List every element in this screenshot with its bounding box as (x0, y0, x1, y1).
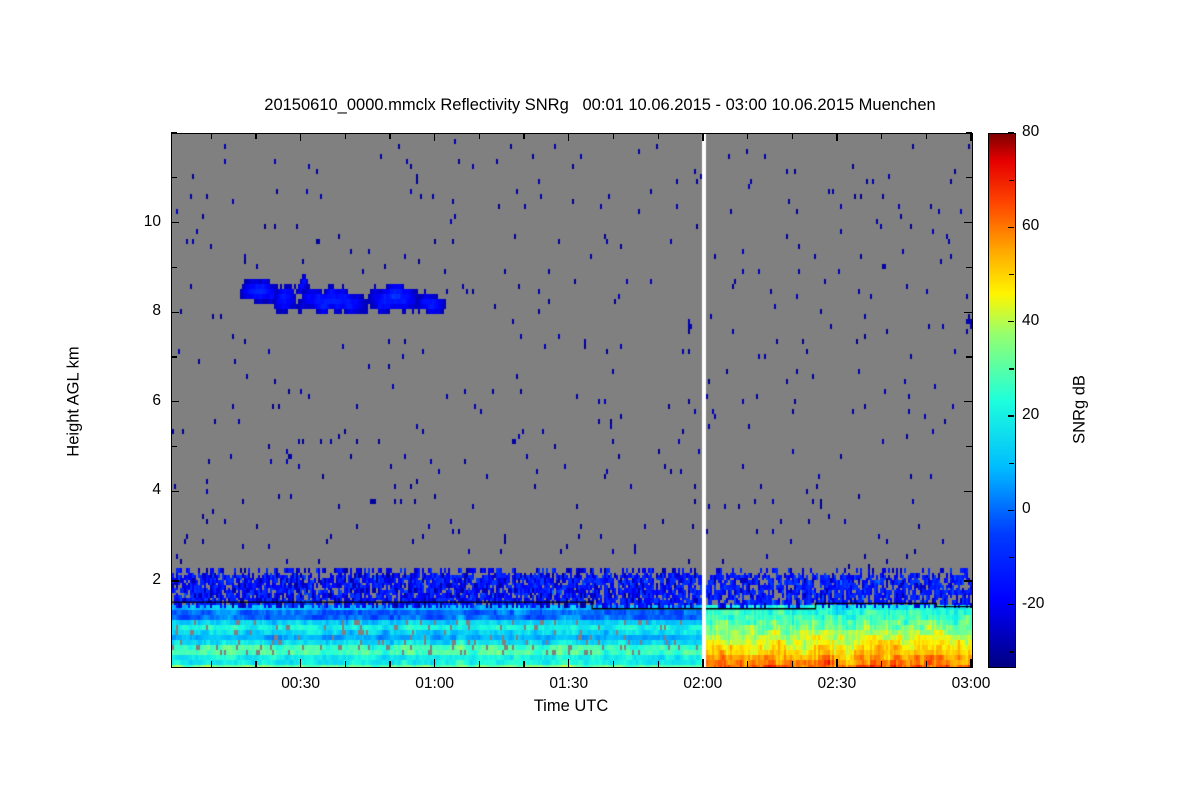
y-axis-tick-label: 2 (121, 571, 161, 589)
y-axis-label: Height AGL km (65, 282, 84, 522)
y-axis-tick (171, 580, 179, 581)
y-axis-minor-tick (171, 446, 177, 447)
y-axis-minor-tick (171, 356, 177, 357)
colorbar-tick-label: 80 (1022, 123, 1039, 141)
x-axis-minor-tick (211, 661, 212, 667)
y-axis-tick (171, 491, 179, 492)
colorbar-label: SNRg dB (1071, 310, 1090, 510)
x-axis-tick (300, 659, 301, 667)
colorbar-tick (1008, 510, 1014, 511)
colorbar-tick (1008, 227, 1014, 228)
x-axis-minor-tick-top (792, 133, 793, 139)
y-axis-tick-label: 6 (121, 392, 161, 410)
x-axis-minor-tick-top (523, 133, 524, 139)
x-axis-minor-tick (345, 661, 346, 667)
y-axis-tick-right (964, 580, 972, 581)
y-axis-tick-label: 8 (121, 302, 161, 320)
x-axis-tick-label: 02:00 (663, 675, 743, 693)
x-axis-minor-tick (926, 661, 927, 667)
x-axis-tick (702, 659, 703, 667)
x-axis-minor-tick-top (926, 133, 927, 139)
reflectivity-heatmap-axes (171, 133, 973, 668)
x-axis-tick (568, 659, 569, 667)
y-axis-tick-label: 10 (121, 213, 161, 231)
x-axis-tick-label: 01:00 (395, 675, 475, 693)
y-axis-tick-right (964, 491, 972, 492)
colorbar-tick (1008, 321, 1014, 322)
x-axis-minor-tick-top (658, 133, 659, 139)
y-axis-minor-tick-right (966, 177, 972, 178)
y-axis-tick (171, 222, 179, 223)
y-axis-minor-tick (171, 132, 177, 133)
colorbar-gradient (989, 134, 1015, 667)
y-axis-tick-right (964, 222, 972, 223)
x-axis-tick-top (568, 133, 569, 141)
y-axis-tick-right (964, 401, 972, 402)
x-axis-minor-tick-top (211, 133, 212, 139)
x-axis-tick-label: 03:00 (931, 675, 1011, 693)
x-axis-tick-top (434, 133, 435, 141)
colorbar-minor-tick (1009, 557, 1014, 558)
colorbar-tick-label: 0 (1022, 500, 1031, 518)
y-axis-tick-right (964, 312, 972, 313)
x-axis-minor-tick (881, 661, 882, 667)
y-axis-minor-tick (171, 267, 177, 268)
y-axis-tick (171, 312, 179, 313)
colorbar (988, 133, 1016, 668)
colorbar-tick-label: 40 (1022, 312, 1039, 330)
y-axis-minor-tick-right (966, 267, 972, 268)
colorbar-tick-label: 20 (1022, 406, 1039, 424)
x-axis-minor-tick (792, 661, 793, 667)
x-axis-minor-tick-top (479, 133, 480, 139)
y-axis-minor-tick-right (966, 356, 972, 357)
page-title: 20150610_0000.mmclx Reflectivity SNRg 00… (0, 96, 1200, 115)
x-axis-minor-tick (658, 661, 659, 667)
x-axis-tick-top (836, 133, 837, 141)
colorbar-minor-tick (1009, 180, 1014, 181)
x-axis-tick (836, 659, 837, 667)
colorbar-tick-label: 60 (1022, 217, 1039, 235)
colorbar-tick (1008, 132, 1014, 133)
y-axis-tick-label: 4 (121, 481, 161, 499)
x-axis-minor-tick (389, 661, 390, 667)
x-axis-minor-tick (523, 661, 524, 667)
x-axis-tick-label: 01:30 (529, 675, 609, 693)
x-axis-minor-tick-top (747, 133, 748, 139)
x-axis-tick-label: 00:30 (261, 675, 341, 693)
x-axis-tick-top (300, 133, 301, 141)
y-axis-minor-tick (171, 177, 177, 178)
x-axis-label: Time UTC (171, 697, 971, 716)
colorbar-minor-tick (1009, 274, 1014, 275)
heatmap-data (172, 134, 972, 667)
x-axis-minor-tick-top (613, 133, 614, 139)
x-axis-minor-tick (255, 661, 256, 667)
x-axis-tick-top (970, 133, 971, 141)
colorbar-tick (1008, 415, 1014, 416)
colorbar-minor-tick (1009, 368, 1014, 369)
x-axis-minor-tick-top (389, 133, 390, 139)
colorbar-tick-label: -20 (1022, 595, 1044, 613)
figure-canvas: 20150610_0000.mmclx Reflectivity SNRg 00… (0, 0, 1200, 800)
x-axis-minor-tick (747, 661, 748, 667)
x-axis-minor-tick-top (255, 133, 256, 139)
x-axis-minor-tick-top (881, 133, 882, 139)
x-axis-tick (970, 659, 971, 667)
colorbar-tick (1008, 604, 1014, 605)
y-axis-minor-tick-right (966, 132, 972, 133)
x-axis-minor-tick (613, 661, 614, 667)
x-axis-minor-tick-top (345, 133, 346, 139)
y-axis-minor-tick-right (966, 446, 972, 447)
y-axis-tick (171, 401, 179, 402)
colorbar-minor-tick (1009, 651, 1014, 652)
x-axis-minor-tick (479, 661, 480, 667)
colorbar-minor-tick (1009, 463, 1014, 464)
x-axis-tick (434, 659, 435, 667)
x-axis-tick-top (702, 133, 703, 141)
x-axis-tick-label: 02:30 (797, 675, 877, 693)
